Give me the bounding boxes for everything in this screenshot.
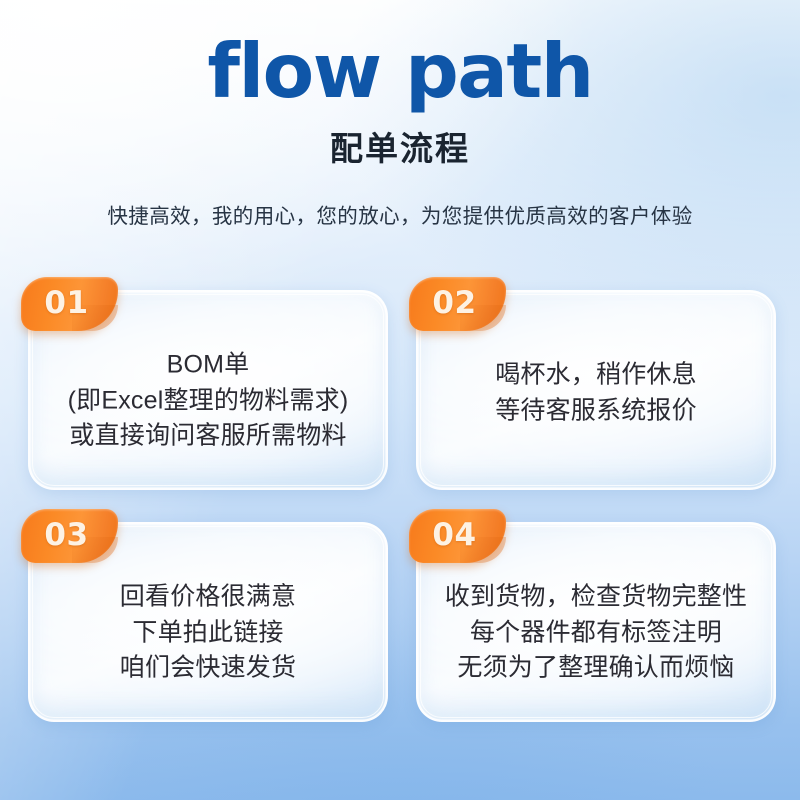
page-subtitle: 配单流程: [0, 109, 800, 167]
page-tagline: 快捷高效，我的用心，您的放心，为您提供优质高效的客户体验: [0, 167, 800, 230]
flow-step-card-02[interactable]: 02 喝杯水，稍作休息 等待客服系统报价: [416, 290, 776, 490]
step-number-04: 04: [432, 520, 482, 553]
card-text-01: BOM单 (即Excel整理的物料需求) 或直接询问客服所需物料: [38, 347, 378, 454]
card-line: 下单拍此链接: [38, 615, 378, 651]
step-number-02: 02: [432, 288, 482, 321]
card-line: 喝杯水，稍作休息: [426, 357, 766, 393]
flow-step-card-01[interactable]: 01 BOM单 (即Excel整理的物料需求) 或直接询问客服所需物料: [28, 290, 388, 490]
card-text-04: 收到货物，检查货物完整性 每个器件都有标签注明 无须为了整理确认而烦恼: [426, 579, 766, 686]
flow-step-grid: 01 BOM单 (即Excel整理的物料需求) 或直接询问客服所需物料 02 喝…: [28, 290, 776, 722]
card-line: 等待客服系统报价: [426, 393, 766, 429]
card-line: 每个器件都有标签注明: [426, 615, 766, 651]
card-line: BOM单: [38, 347, 378, 383]
card-line: 回看价格很满意: [38, 579, 378, 615]
flow-step-card-04[interactable]: 04 收到货物，检查货物完整性 每个器件都有标签注明 无须为了整理确认而烦恼: [416, 522, 776, 722]
card-line: 无须为了整理确认而烦恼: [426, 650, 766, 686]
step-number-01: 01: [44, 288, 94, 321]
card-text-02: 喝杯水，稍作休息 等待客服系统报价: [426, 357, 766, 428]
flow-step-card-03[interactable]: 03 回看价格很满意 下单拍此链接 咱们会快速发货: [28, 522, 388, 722]
poster-header: flow path 配单流程 快捷高效，我的用心，您的放心，为您提供优质高效的客…: [0, 0, 800, 230]
page-title: flow path: [0, 0, 800, 109]
card-line: 咱们会快速发货: [38, 650, 378, 686]
step-number-03: 03: [44, 520, 94, 553]
card-line: 收到货物，检查货物完整性: [426, 579, 766, 615]
poster-root: flow path 配单流程 快捷高效，我的用心，您的放心，为您提供优质高效的客…: [0, 0, 800, 800]
card-line: 或直接询问客服所需物料: [38, 418, 378, 454]
card-text-03: 回看价格很满意 下单拍此链接 咱们会快速发货: [38, 579, 378, 686]
card-line: (即Excel整理的物料需求): [38, 383, 378, 419]
